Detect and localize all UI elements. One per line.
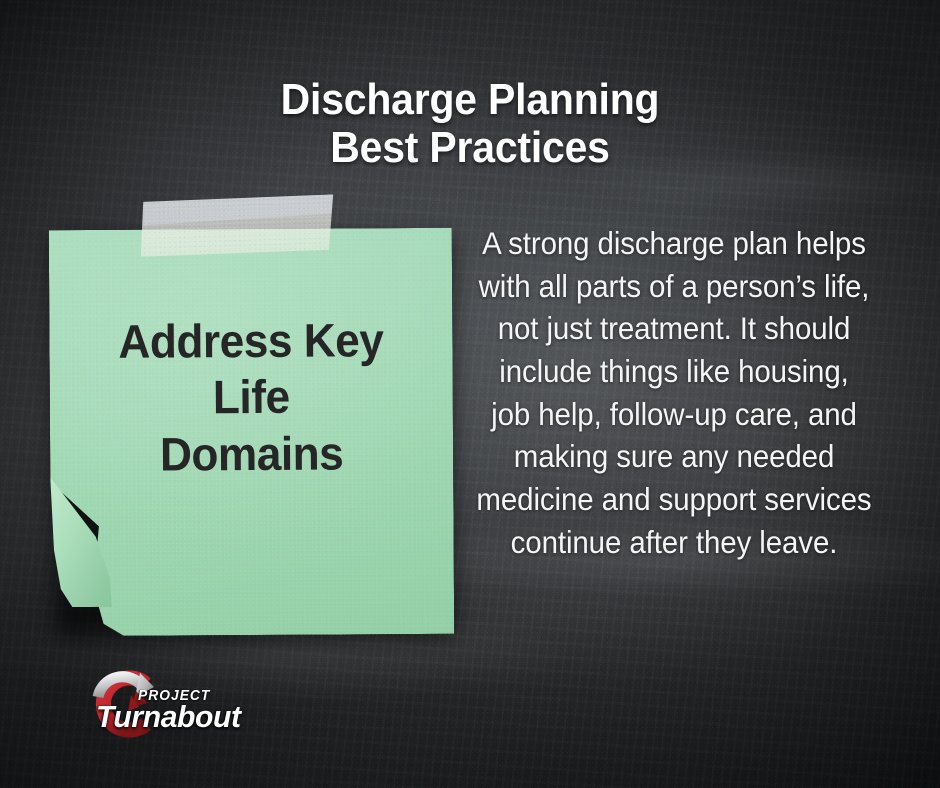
sticky-note: Address Key Life Domains xyxy=(49,228,454,638)
body-paragraph: A strong discharge plan helps with all p… xyxy=(476,222,872,563)
page-title: Discharge Planning Best Practices xyxy=(33,76,907,172)
logo-text-turnabout: Turnabout xyxy=(96,699,241,735)
sticky-note-heading: Address Key Life Domains xyxy=(61,312,441,483)
masking-tape xyxy=(139,194,337,256)
project-turnabout-logo[interactable]: PROJECT Turnabout xyxy=(84,667,264,741)
masking-tape-grain xyxy=(139,194,337,256)
